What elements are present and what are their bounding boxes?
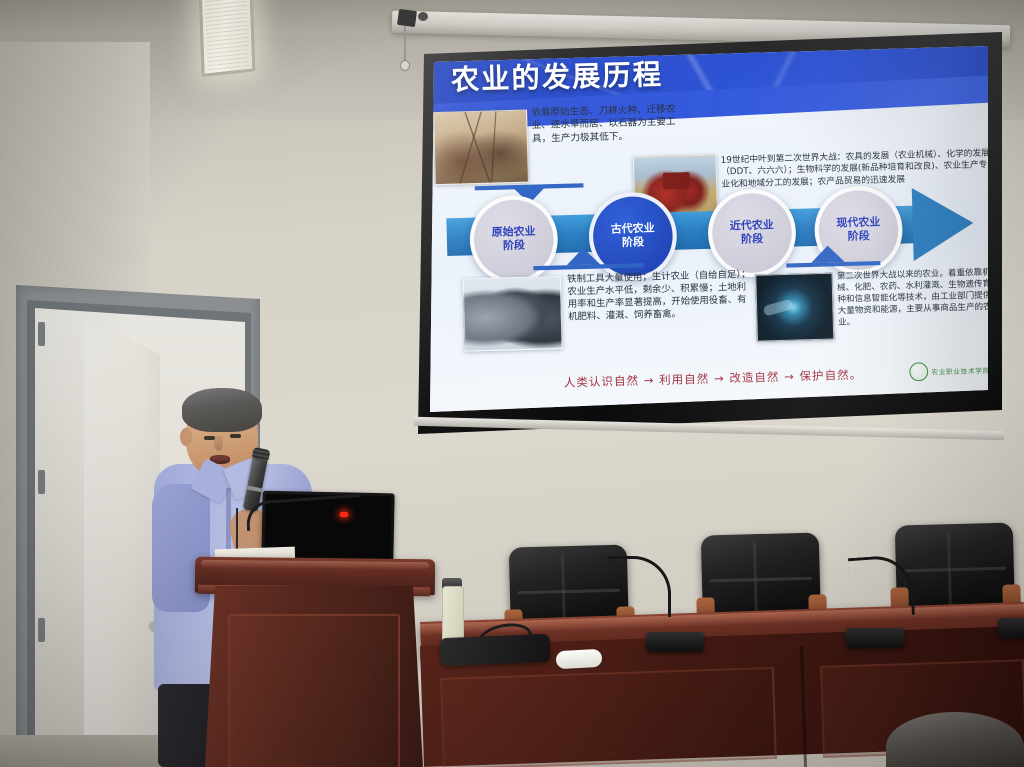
ancient-text: 铁制工具大量使用；生计农业（自给自足）；农业生产水平低，剩余少、积累慢；土地利用… xyxy=(567,269,752,324)
tissue-paper xyxy=(556,649,603,669)
stage-label-line2: 阶段 xyxy=(741,233,763,247)
stage-label-line1: 古代农业 xyxy=(611,222,655,237)
screen-pull-chain[interactable] xyxy=(404,26,406,62)
door-hinge-bottom xyxy=(38,618,45,642)
table-panel-left xyxy=(440,667,777,767)
presenter-eye-right xyxy=(230,434,241,438)
stage-arrow-band: 原始农业 阶段 古代农业 阶段 近代农业 阶段 现代农业 阶段 xyxy=(446,189,978,270)
pointer-up-ancient xyxy=(566,248,600,266)
projected-slide: 农业的发展历程 依靠原始生态、刀耕火种、迁移农业、逐水草而居、以石器为主要工具，… xyxy=(430,46,988,412)
presenter-ear xyxy=(180,428,192,446)
podium-front-panel xyxy=(228,614,400,767)
stage-label-line1: 近代农业 xyxy=(730,219,774,234)
black-bag[interactable] xyxy=(439,634,550,667)
institution-logo: 农业职业技术学院 xyxy=(909,360,988,381)
arrow-head xyxy=(912,186,975,261)
podium-mic-led-indicator xyxy=(340,512,348,517)
pointer-up-modern xyxy=(811,245,845,263)
table-microphone-right-base[interactable] xyxy=(846,628,904,648)
smart-agriculture-photo xyxy=(755,273,834,342)
microphone-head xyxy=(252,447,271,462)
logo-mark-icon xyxy=(909,362,928,381)
logo-text: 农业职业技术学院 xyxy=(931,365,988,377)
table-microphone-far-base[interactable] xyxy=(998,618,1024,638)
stage-label-line2: 阶段 xyxy=(503,239,525,253)
stage-label-line2: 阶段 xyxy=(622,236,644,250)
primitive-farming-photo xyxy=(433,110,529,186)
microphone-band xyxy=(247,485,262,492)
stage-circle-recent[interactable]: 近代农业 阶段 xyxy=(707,188,797,278)
lecture-hall-screenshot: 农业的发展历程 依靠原始生态、刀耕火种、迁移农业、逐水草而居、以石器为主要工具，… xyxy=(0,0,1024,767)
industrial-text: 19世纪中叶到第二次世界大战：农具的发展（农业机械）、化学的发展（DDT、六六六… xyxy=(721,147,988,190)
presenter-nose xyxy=(214,436,223,451)
ceiling-light-panel xyxy=(199,0,256,77)
stage-label-line1: 现代农业 xyxy=(836,216,880,231)
presenter-hair xyxy=(182,388,262,432)
door-hinge-mid xyxy=(38,470,45,494)
screen-mount-bracket xyxy=(397,9,417,27)
door-hinge-top xyxy=(38,322,45,346)
table-microphone-left-base[interactable] xyxy=(646,632,704,652)
stage-label-line1: 原始农业 xyxy=(491,225,535,240)
slide-footer-text: 人类认识自然 → 利用自然 → 改造自然 → 保护自然。 xyxy=(430,362,988,394)
screen-pull-bead[interactable] xyxy=(400,60,410,71)
door-leaf[interactable] xyxy=(84,318,160,767)
primitive-text: 依靠原始生态、刀耕火种、迁移农业、逐水草而居、以石器为主要工具，生产力极其低下。 xyxy=(531,103,680,146)
stage-label-line2: 阶段 xyxy=(848,230,870,244)
screen-mount-bolt xyxy=(418,12,428,21)
ancient-tools-photo xyxy=(463,276,563,352)
stage-circle-primitive[interactable]: 原始农业 阶段 xyxy=(469,194,559,284)
modern-text: 第二次世界大战以来的农业。着重依靠机械、化肥、农药、水利灌溉、生物遗传育种和信息… xyxy=(837,266,988,328)
